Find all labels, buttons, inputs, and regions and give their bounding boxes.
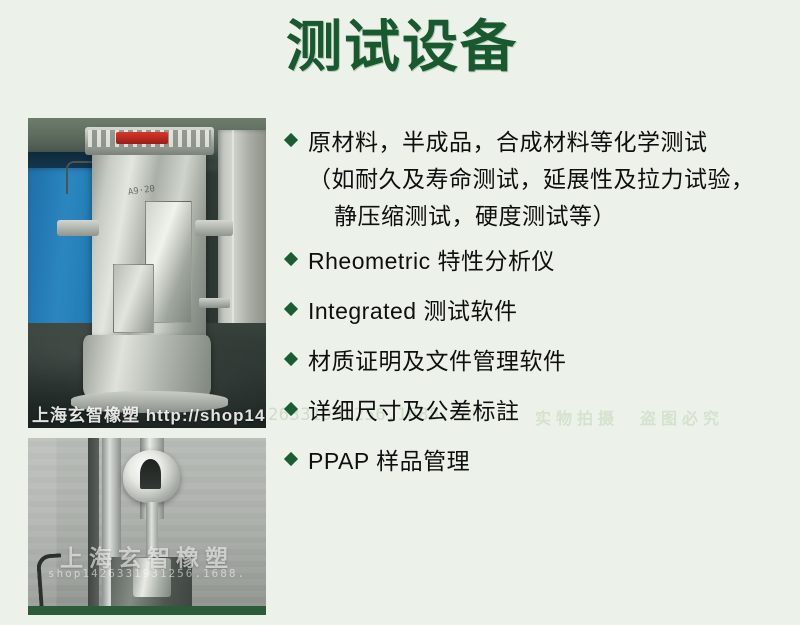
list-item[interactable]: Rheometric 特性分析仪 bbox=[286, 243, 786, 280]
photo-tensile-machine: 上海玄智橡塑 shop1426331931256.1688. bbox=[28, 438, 266, 615]
fixture-base-disc bbox=[83, 335, 212, 397]
machine-dark-rail bbox=[88, 438, 100, 615]
photo-top-watermark-band: 上海玄智橡塑 http://shop14 bbox=[28, 397, 266, 427]
photo-test-fixture: A9·20 上海玄智橡塑 http://shop14 bbox=[28, 118, 266, 428]
grip-aperture bbox=[140, 459, 161, 489]
list-item[interactable]: 原材料，半成品，合成材料等化学测试 （如耐久及寿命测试，延展性及拉力试验， 静压… bbox=[286, 124, 786, 235]
photo-bottom-watermark-url: shop1426331931256.1688. bbox=[48, 567, 246, 580]
list-item-line-2: （如耐久及寿命测试，延展性及拉力试验， bbox=[308, 161, 786, 198]
list-item-line-1: 原材料，半成品，合成材料等化学测试 bbox=[308, 124, 786, 161]
page-title: 测试设备 bbox=[286, 14, 518, 81]
red-gasket bbox=[116, 132, 168, 144]
side-rod-left bbox=[57, 220, 100, 236]
list-item-text: 原材料，半成品，合成材料等化学测试 （如耐久及寿命测试，延展性及拉力试验， 静压… bbox=[308, 124, 786, 235]
diamond-bullet-icon bbox=[284, 352, 298, 366]
list-item-text: 材质证明及文件管理软件 bbox=[308, 343, 786, 380]
diamond-bullet-icon bbox=[284, 302, 298, 316]
list-item[interactable]: PPAP 样品管理 bbox=[286, 443, 786, 480]
list-item-text: 详细尺寸及公差标註 bbox=[308, 393, 786, 430]
slide-canvas: 测试设备 A9·20 上海玄智橡塑 http://shop14 bbox=[0, 0, 800, 625]
diamond-bullet-icon bbox=[284, 252, 298, 266]
list-item-text: PPAP 样品管理 bbox=[308, 443, 786, 480]
list-item[interactable]: 材质证明及文件管理软件 bbox=[286, 343, 786, 380]
list-item-text: Integrated 测试软件 bbox=[308, 293, 786, 330]
list-item-line-3: 静压缩测试，硬度测试等） bbox=[308, 198, 786, 235]
list-item[interactable]: Integrated 测试软件 bbox=[286, 293, 786, 330]
green-floor bbox=[28, 606, 266, 615]
fixture-block-left bbox=[113, 264, 154, 334]
list-item-text: Rheometric 特性分析仪 bbox=[308, 243, 786, 280]
photo-top-caption: 上海玄智橡塑 http://shop14 bbox=[32, 401, 265, 426]
feature-list: 原材料，半成品，合成材料等化学测试 （如耐久及寿命测试，延展性及拉力试验， 静压… bbox=[286, 124, 786, 493]
diamond-bullet-icon bbox=[284, 402, 298, 416]
list-item[interactable]: 详细尺寸及公差标註 bbox=[286, 393, 786, 430]
diamond-bullet-icon bbox=[284, 452, 298, 466]
diamond-bullet-icon bbox=[284, 133, 298, 147]
side-rod-right bbox=[195, 220, 233, 236]
side-pin-right bbox=[199, 298, 230, 308]
fixture-marking: A9·20 bbox=[127, 184, 155, 198]
